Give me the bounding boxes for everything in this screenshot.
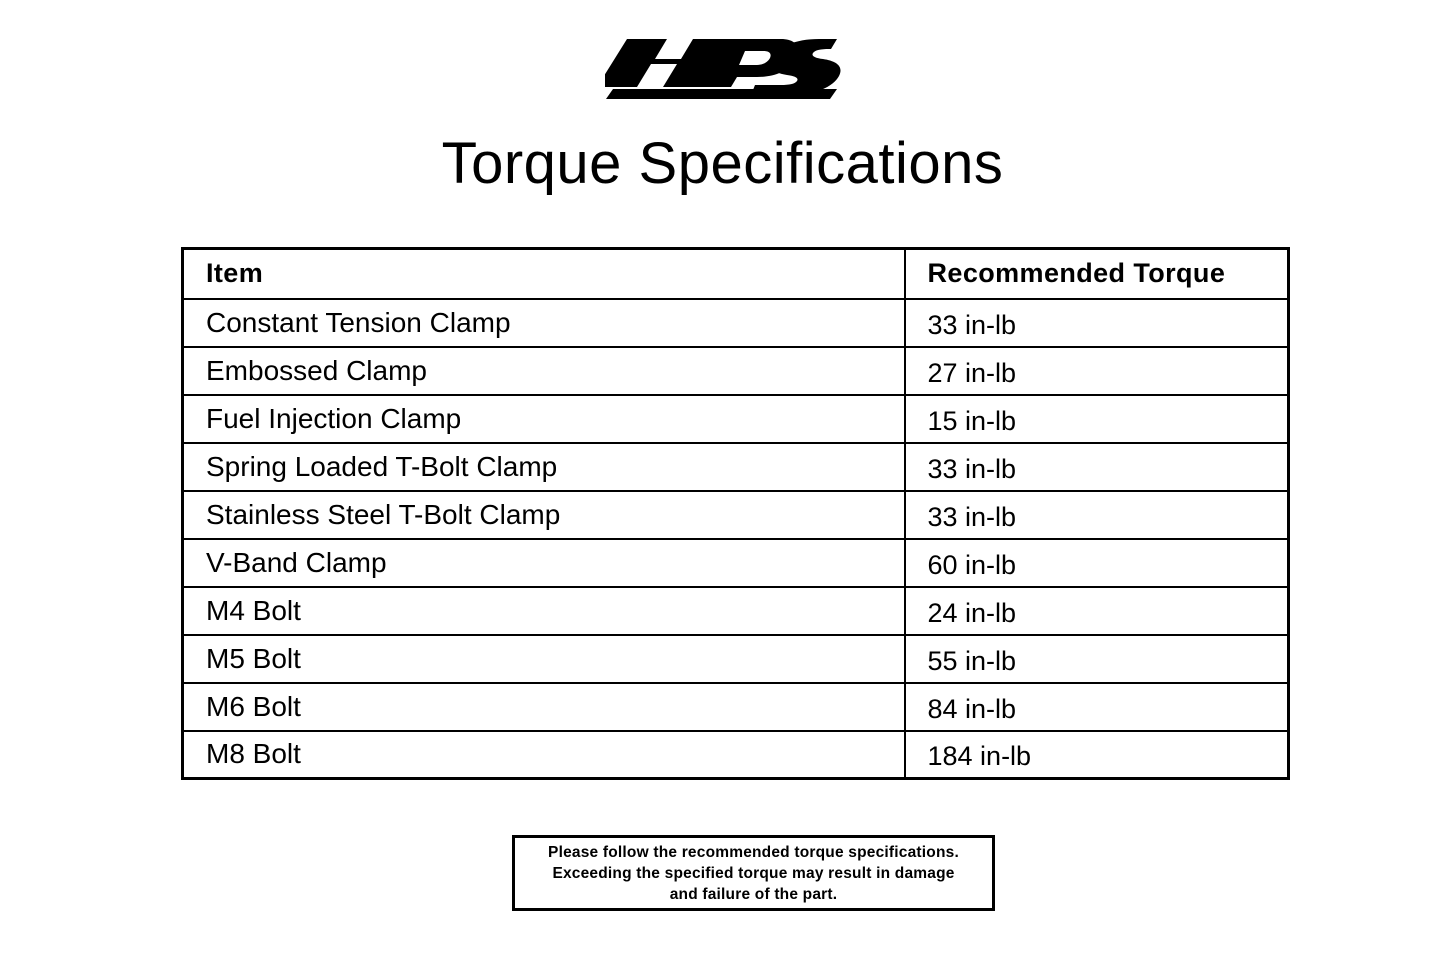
- cell-torque: 33 in-lb: [905, 443, 1289, 491]
- table-row: Embossed Clamp 27 in-lb: [183, 347, 1289, 395]
- table-header-row: Item Recommended Torque: [183, 249, 1289, 299]
- cell-torque: 33 in-lb: [905, 299, 1289, 347]
- table-row: M8 Bolt 184 in-lb: [183, 731, 1289, 779]
- cell-item: V-Band Clamp: [183, 539, 905, 587]
- cell-item: M5 Bolt: [183, 635, 905, 683]
- torque-table-container: Item Recommended Torque Constant Tension…: [181, 247, 1287, 780]
- cell-torque: 33 in-lb: [905, 491, 1289, 539]
- page-title: Torque Specifications: [0, 128, 1445, 200]
- table-row: M4 Bolt 24 in-lb: [183, 587, 1289, 635]
- cell-torque: 84 in-lb: [905, 683, 1289, 731]
- table-row: Constant Tension Clamp 33 in-lb: [183, 299, 1289, 347]
- note-line: and failure of the part.: [670, 884, 838, 905]
- table-row: Stainless Steel T-Bolt Clamp 33 in-lb: [183, 491, 1289, 539]
- brand-logo: [0, 28, 1445, 108]
- hps-logo-icon: [605, 37, 841, 99]
- cell-torque: 15 in-lb: [905, 395, 1289, 443]
- table-body: Constant Tension Clamp 33 in-lb Embossed…: [183, 299, 1289, 779]
- table-row: Fuel Injection Clamp 15 in-lb: [183, 395, 1289, 443]
- cell-item: Fuel Injection Clamp: [183, 395, 905, 443]
- cell-torque: 60 in-lb: [905, 539, 1289, 587]
- table-row: Spring Loaded T-Bolt Clamp 33 in-lb: [183, 443, 1289, 491]
- cell-item: M4 Bolt: [183, 587, 905, 635]
- table-row: V-Band Clamp 60 in-lb: [183, 539, 1289, 587]
- table-row: M6 Bolt 84 in-lb: [183, 683, 1289, 731]
- cell-item: M8 Bolt: [183, 731, 905, 779]
- table-row: M5 Bolt 55 in-lb: [183, 635, 1289, 683]
- table-header: Item Recommended Torque: [183, 249, 1289, 299]
- cell-item: Stainless Steel T-Bolt Clamp: [183, 491, 905, 539]
- warning-note-box: Please follow the recommended torque spe…: [512, 835, 995, 911]
- torque-table: Item Recommended Torque Constant Tension…: [181, 247, 1290, 780]
- cell-item: M6 Bolt: [183, 683, 905, 731]
- note-line: Exceeding the specified torque may resul…: [552, 863, 954, 884]
- cell-item: Embossed Clamp: [183, 347, 905, 395]
- cell-item: Spring Loaded T-Bolt Clamp: [183, 443, 905, 491]
- column-header-item: Item: [183, 249, 905, 299]
- cell-torque: 55 in-lb: [905, 635, 1289, 683]
- torque-specifications-page: { "brand": { "logo_name": "hps-logo", "l…: [0, 0, 1445, 963]
- cell-torque: 184 in-lb: [905, 731, 1289, 779]
- cell-item: Constant Tension Clamp: [183, 299, 905, 347]
- cell-torque: 27 in-lb: [905, 347, 1289, 395]
- cell-torque: 24 in-lb: [905, 587, 1289, 635]
- note-line: Please follow the recommended torque spe…: [548, 842, 959, 863]
- column-header-torque: Recommended Torque: [905, 249, 1289, 299]
